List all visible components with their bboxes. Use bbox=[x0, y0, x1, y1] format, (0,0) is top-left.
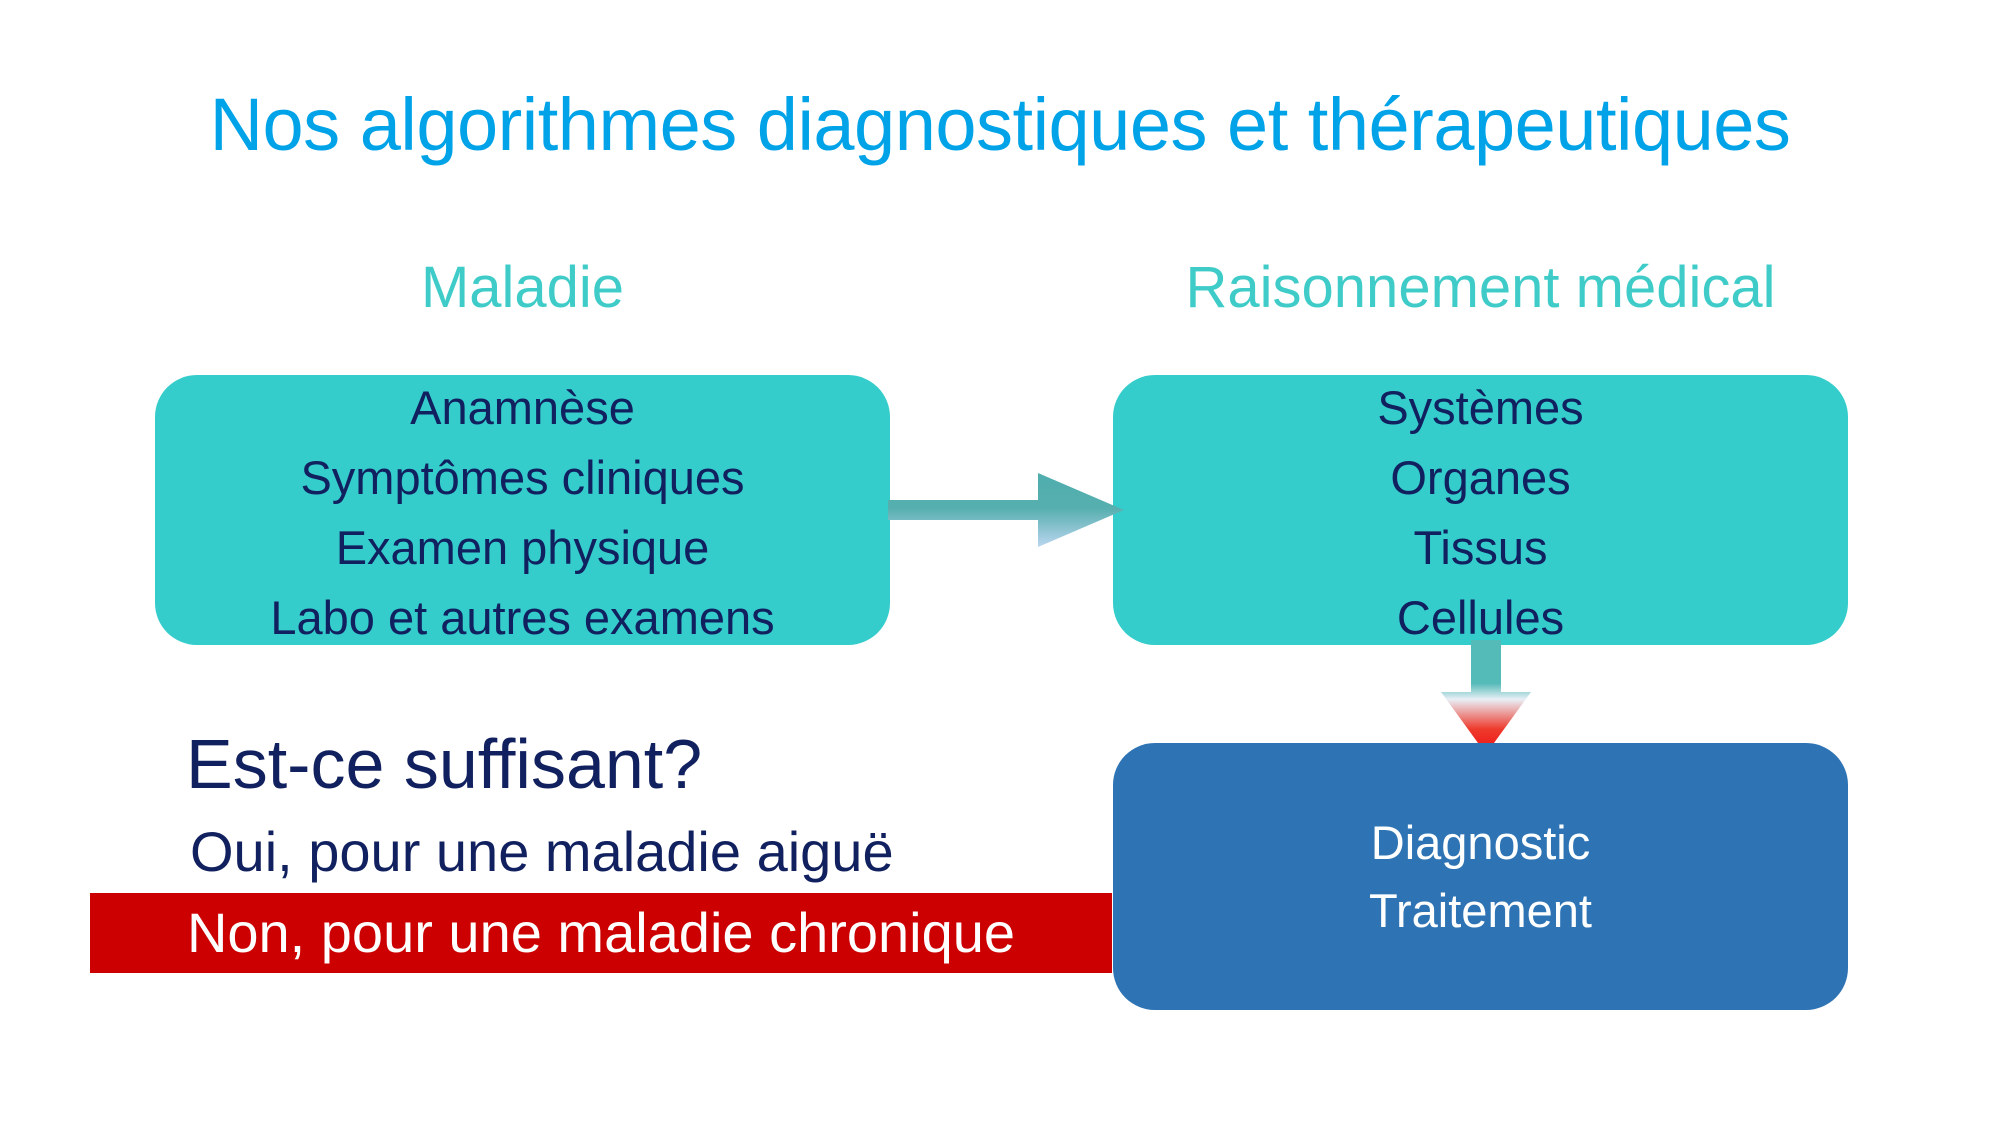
decision-answer-yes: Oui, pour une maladie aiguë bbox=[190, 818, 894, 886]
down-arrow-icon bbox=[1435, 640, 1537, 754]
box-raisonnement-line-3: Tissus bbox=[1413, 513, 1547, 583]
decision-answer-no-banner: Non, pour une maladie chronique bbox=[90, 893, 1112, 973]
box-maladie: Anamnèse Symptômes cliniques Examen phys… bbox=[155, 375, 890, 645]
box-raisonnement-line-2: Organes bbox=[1390, 443, 1570, 513]
box-maladie-line-4: Labo et autres examens bbox=[270, 583, 774, 653]
box-diagnostic-line-1: Diagnostic bbox=[1371, 809, 1590, 877]
box-maladie-line-3: Examen physique bbox=[336, 513, 710, 583]
box-maladie-line-1: Anamnèse bbox=[410, 373, 635, 443]
box-raisonnement-line-1: Systèmes bbox=[1377, 373, 1583, 443]
page-title: Nos algorithmes diagnostiques et thérape… bbox=[0, 82, 2000, 168]
slide-canvas: Nos algorithmes diagnostiques et thérape… bbox=[0, 0, 2000, 1125]
column-heading-maladie: Maladie bbox=[155, 255, 890, 321]
box-raisonnement-medical: Systèmes Organes Tissus Cellules bbox=[1113, 375, 1848, 645]
decision-answer-no-label: Non, pour une maladie chronique bbox=[187, 901, 1015, 965]
column-heading-raisonnement: Raisonnement médical bbox=[1113, 255, 1848, 321]
right-arrow-icon bbox=[888, 462, 1124, 558]
decision-question: Est-ce suffisant? bbox=[186, 722, 702, 806]
box-maladie-line-2: Symptômes cliniques bbox=[300, 443, 744, 513]
box-diagnostic-line-2: Traitement bbox=[1369, 877, 1592, 945]
box-diagnostic-traitement: Diagnostic Traitement bbox=[1113, 743, 1848, 1010]
